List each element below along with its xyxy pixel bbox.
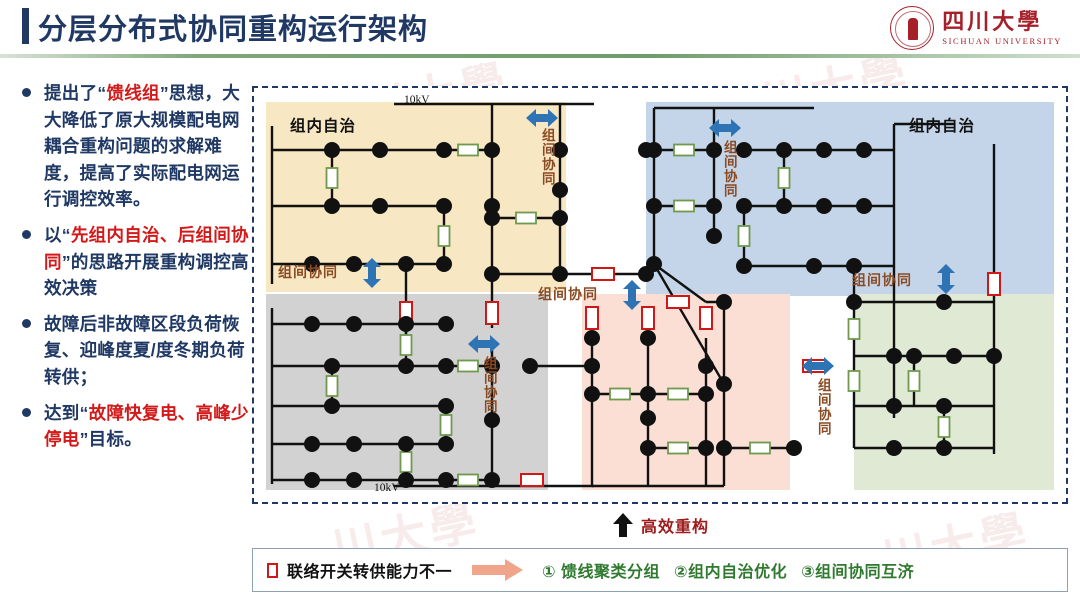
bullet-item-4: 达到“故障快复电、高峰少停电”目标。 [8, 400, 250, 453]
bullet-text-segment: 提出了“ [44, 83, 106, 103]
bullet-text-segment: ”的思路开展重构调控高效决策 [44, 252, 249, 299]
bullet-text-segment: 以“ [44, 225, 71, 245]
voltage-label-1: 10kV [404, 94, 430, 106]
feeder-network-svg [254, 88, 1066, 502]
bullet-dot-icon [22, 408, 31, 417]
logo-text: 四川大學 SICHUAN UNIVERSITY [942, 11, 1062, 46]
zone-label-2: 组内自治 [909, 114, 975, 136]
page-title: 分层分布式协同重构运行架构 [38, 6, 428, 48]
network-diagram: 组内自治组内自治10kV10kV组间协同组间协同组间协同组间协同组间协同组间协同… [252, 86, 1068, 504]
coord-label-upper-right-h: 组间协同 [852, 270, 912, 290]
bullet-text-segment: 故障后非故障区段负荷恢复、迎峰度夏/度冬期负荷转供； [44, 314, 245, 387]
slide-header: 分层分布式协同重构运行架构 四川大學 SICHUAN UNIVERSITY [0, 0, 1080, 58]
diagram-canvas: 组内自治组内自治10kV10kV组间协同组间协同组间协同组间协同组间协同组间协同… [254, 88, 1066, 502]
zone-label-1: 组内自治 [290, 114, 356, 136]
bullet-text-segment: 达到“ [44, 403, 89, 423]
bullet-list: 提出了“馈线组”思想，大大降低了原大规模配电网耦合重构问题的求解难度，提高了实际… [8, 80, 250, 462]
sichuan-university-seal-icon [890, 6, 934, 50]
bullet-dot-icon [22, 230, 31, 239]
coord-label-bottom-mid-v: 组间协同 [482, 356, 496, 414]
double-arrow-horizontal-icon [526, 108, 558, 128]
legend-step-1: ① 馈线聚类分组 [542, 558, 660, 582]
right-arrow-icon [472, 558, 524, 582]
bullet-text-segment: ”目标。 [80, 429, 142, 449]
bullet-item-3: 故障后非故障区段负荷恢复、迎峰度夏/度冬期负荷转供； [8, 311, 250, 391]
coord-label-left-h: 组间协同 [278, 262, 338, 282]
university-logo: 四川大學 SICHUAN UNIVERSITY [890, 5, 1062, 51]
coord-label-right-v: 组间协同 [722, 140, 736, 198]
double-arrow-horizontal-icon [802, 356, 834, 376]
legend-step-2: ②组内自治优化 [674, 558, 787, 582]
bullet-item-2: 以“先组内自治、后组间协同”的思路开展重构调控高效决策 [8, 222, 250, 302]
legend-switch-label: 联络开关转供能力不一 [287, 558, 452, 582]
title-accent-bar [22, 8, 29, 44]
efficient-reconfiguration-label: 高效重构 [641, 513, 709, 537]
header-divider [0, 54, 1080, 58]
double-arrow-vertical-icon [622, 280, 642, 310]
legend-bar: 联络开关转供能力不一 ① 馈线聚类分组 ②组内自治优化 ③组间协同互济 [252, 548, 1068, 592]
coord-label-mid-bottom-h: 组间协同 [538, 284, 598, 304]
double-arrow-horizontal-icon [709, 118, 741, 138]
closed-switches [327, 145, 950, 486]
efficient-reconfiguration: 高效重构 [612, 512, 709, 538]
legend-step-3: ③组间协同互济 [801, 558, 914, 582]
coord-label-bottom-right-v: 组间协同 [816, 378, 830, 436]
bullet-item-1: 提出了“馈线组”思想，大大降低了原大规模配电网耦合重构问题的求解难度，提高了实际… [8, 80, 250, 213]
slide-root: 川大學 川大學 川大學 川大學 分层分布式协同重构运行架构 四川大學 SICHU… [0, 0, 1080, 608]
double-arrow-vertical-icon [362, 258, 382, 288]
logo-name-en: SICHUAN UNIVERSITY [942, 37, 1062, 46]
bullet-dot-icon [22, 319, 31, 328]
open-tie-switch-icon [267, 563, 278, 578]
double-arrow-horizontal-icon [468, 334, 500, 354]
bullet-text-segment: 馈线组 [106, 83, 159, 103]
double-arrow-vertical-icon [936, 264, 956, 294]
logo-name-cn: 四川大學 [942, 11, 1062, 33]
coord-label-mid-v: 组间协同 [540, 128, 554, 186]
up-arrow-icon [612, 512, 634, 538]
bullet-dot-icon [22, 88, 31, 97]
voltage-label-2: 10kV [374, 482, 400, 494]
